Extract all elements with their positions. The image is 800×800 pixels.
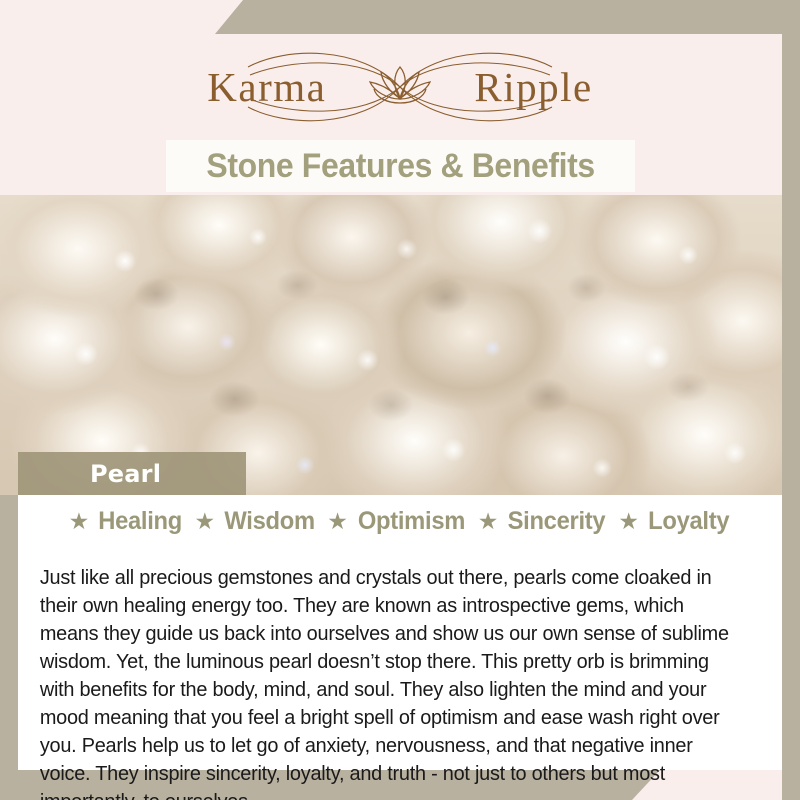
brand-logo: Karma Ripple [0, 34, 800, 140]
keyword-label: Wisdom [224, 507, 314, 536]
star-icon: ★ [194, 510, 215, 533]
keyword-item-optimism: ★ Optimism [317, 507, 468, 536]
stone-name-bar: Pearl [18, 452, 246, 495]
photo-highlight-layer [0, 195, 782, 495]
keyword-label: Sincerity [508, 507, 606, 536]
keyword-label: Loyalty [648, 507, 729, 536]
star-icon: ★ [478, 510, 499, 533]
brand-name-left: Karma [207, 63, 326, 111]
page-title: Stone Features & Benefits [206, 147, 594, 186]
stone-name-label: Pearl [90, 460, 161, 488]
star-icon: ★ [327, 510, 348, 533]
keyword-label: Optimism [358, 507, 465, 536]
star-icon: ★ [618, 510, 639, 533]
star-icon: ★ [69, 510, 90, 533]
infographic-card: Karma Ripple Stone Features & Benefits P… [0, 0, 800, 800]
frame-left-band [0, 489, 18, 800]
keyword-list: ★ Healing ★ Wisdom ★ Optimism ★ Sincerit… [34, 495, 766, 541]
content-panel: ★ Healing ★ Wisdom ★ Optimism ★ Sincerit… [18, 495, 782, 770]
pearl-pile-photo [0, 195, 782, 495]
frame-top-band [215, 0, 800, 34]
keyword-item-loyalty: ★ Loyalty [608, 507, 731, 536]
page-title-banner: Stone Features & Benefits [166, 140, 635, 192]
brand-name-right: Ripple [474, 63, 592, 111]
stone-description: Just like all precious gemstones and cry… [34, 562, 744, 800]
keyword-item-healing: ★ Healing [69, 507, 185, 536]
keyword-item-sincerity: ★ Sincerity [468, 507, 609, 536]
keyword-item-wisdom: ★ Wisdom [184, 507, 317, 536]
keyword-label: Healing [98, 507, 182, 536]
